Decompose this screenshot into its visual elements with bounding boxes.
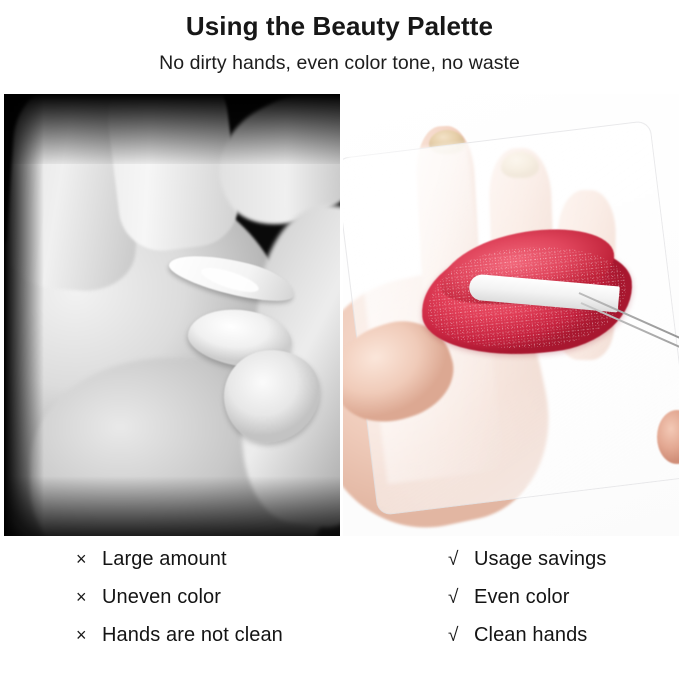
page-title: Using the Beauty Palette [0,11,679,42]
check-icon: √ [448,617,474,655]
page-subtitle: No dirty hands, even color tone, no wast… [0,51,679,75]
benefits-comparison: × Large amount × Uneven color × Hands ar… [0,540,679,679]
cross-icon: × [76,578,102,616]
pros-item-2-label: Even color [474,578,570,616]
cons-item-2: × Uneven color [76,578,283,616]
left-photo-shadow-bottom [4,476,340,536]
pros-item-3-label: Clean hands [474,616,587,654]
pros-item-1-label: Usage savings [474,540,606,578]
header: Using the Beauty Palette No dirty hands,… [0,0,679,94]
pros-item-2: √ Even color [448,578,606,616]
pros-item-1: √ Usage savings [448,540,606,578]
cons-item-3: × Hands are not clean [76,616,283,654]
cross-icon: × [76,616,102,654]
comparison-photo-band [4,94,679,536]
check-icon: √ [448,541,474,579]
photo-before-grayscale-hand [4,94,340,536]
cons-item-3-label: Hands are not clean [102,616,283,654]
pros-column: √ Usage savings √ Even color √ Clean han… [448,540,606,654]
photo-after-palette-in-hand [343,94,679,536]
infographic-page: Using the Beauty Palette No dirty hands,… [0,0,679,679]
cons-item-2-label: Uneven color [102,578,221,616]
cons-item-1: × Large amount [76,540,283,578]
cons-item-1-label: Large amount [102,540,227,578]
cons-column: × Large amount × Uneven color × Hands ar… [76,540,283,654]
check-icon: √ [448,579,474,617]
left-photo-shadow-top [4,94,340,164]
pros-item-3: √ Clean hands [448,616,606,654]
cross-icon: × [76,540,102,578]
